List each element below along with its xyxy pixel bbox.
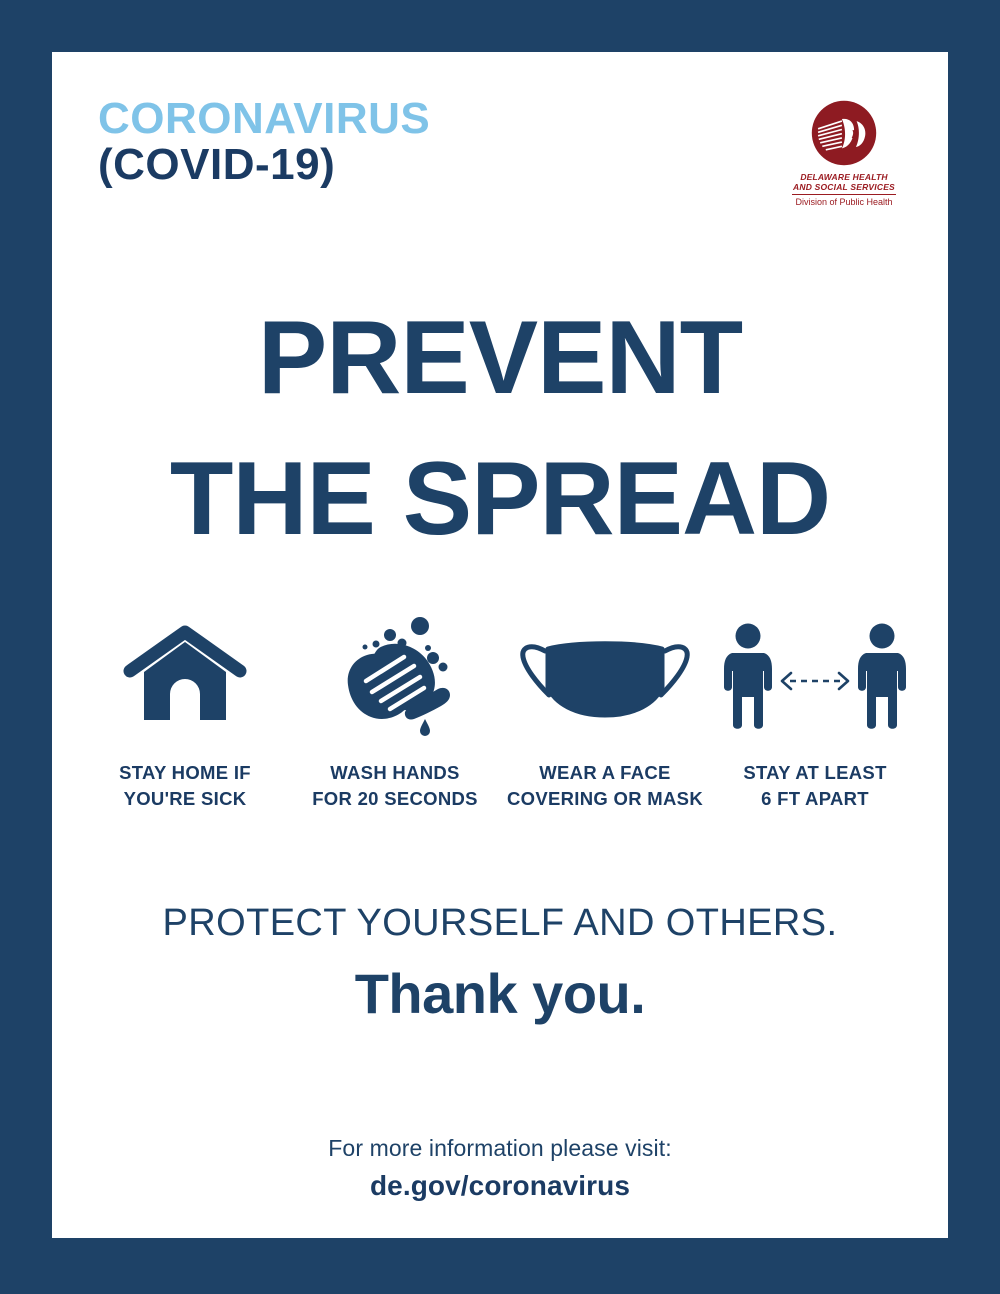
social-distance-icon bbox=[720, 621, 910, 733]
washing-hands-icon-wrap bbox=[332, 612, 458, 742]
poster-frame: CORONAVIRUS (COVID-19) bbox=[0, 0, 1000, 1294]
house-icon bbox=[122, 622, 248, 732]
face-mask-icon bbox=[515, 625, 695, 729]
closing-block: PROTECT YOURSELF AND OTHERS. Thank you. bbox=[52, 902, 948, 1026]
logo-divider bbox=[792, 194, 896, 195]
title-coronavirus: CORONAVIRUS bbox=[98, 96, 430, 142]
headline-the-spread: THE SPREAD bbox=[52, 429, 948, 570]
prevention-item-wash-hands: WASH HANDS FOR 20 SECONDS bbox=[290, 612, 500, 811]
caption-face-mask: WEAR A FACE COVERING OR MASK bbox=[507, 760, 703, 811]
footer-info-text: For more information please visit: bbox=[52, 1135, 948, 1162]
social-distance-icon-wrap bbox=[720, 612, 910, 742]
prevention-item-stay-home: STAY HOME IF YOU'RE SICK bbox=[80, 612, 290, 811]
prevention-item-face-mask: WEAR A FACE COVERING OR MASK bbox=[500, 612, 710, 811]
footer-block: For more information please visit: de.go… bbox=[52, 1135, 948, 1202]
headline-block: PREVENT THE SPREAD bbox=[52, 288, 948, 571]
house-icon-wrap bbox=[122, 612, 248, 742]
agency-logo: DELAWARE HEALTH AND SOCIAL SERVICES Divi… bbox=[778, 98, 910, 208]
prevention-icon-row: STAY HOME IF YOU'RE SICK bbox=[52, 612, 948, 811]
closing-protect-line: PROTECT YOURSELF AND OTHERS. bbox=[52, 902, 948, 945]
footer-url[interactable]: de.gov/coronavirus bbox=[52, 1170, 948, 1202]
logo-division-text: Division of Public Health bbox=[778, 197, 910, 208]
closing-thank-you: Thank you. bbox=[52, 961, 948, 1026]
washing-hands-icon bbox=[332, 615, 458, 739]
caption-stay-home: STAY HOME IF YOU'RE SICK bbox=[119, 760, 251, 811]
poster-sheet: CORONAVIRUS (COVID-19) bbox=[52, 52, 948, 1238]
dhss-circle-logo-icon bbox=[809, 98, 879, 168]
face-mask-icon-wrap bbox=[515, 612, 695, 742]
title-covid19: (COVID-19) bbox=[98, 142, 430, 188]
poster-title-block: CORONAVIRUS (COVID-19) bbox=[98, 96, 430, 188]
headline-prevent: PREVENT bbox=[52, 288, 948, 429]
caption-social-distance: STAY AT LEAST 6 FT APART bbox=[743, 760, 886, 811]
caption-wash-hands: WASH HANDS FOR 20 SECONDS bbox=[312, 760, 478, 811]
logo-agency-text: DELAWARE HEALTH AND SOCIAL SERVICES bbox=[778, 172, 910, 193]
poster-header: CORONAVIRUS (COVID-19) bbox=[52, 52, 948, 222]
prevention-item-social-distance: STAY AT LEAST 6 FT APART bbox=[710, 612, 920, 811]
